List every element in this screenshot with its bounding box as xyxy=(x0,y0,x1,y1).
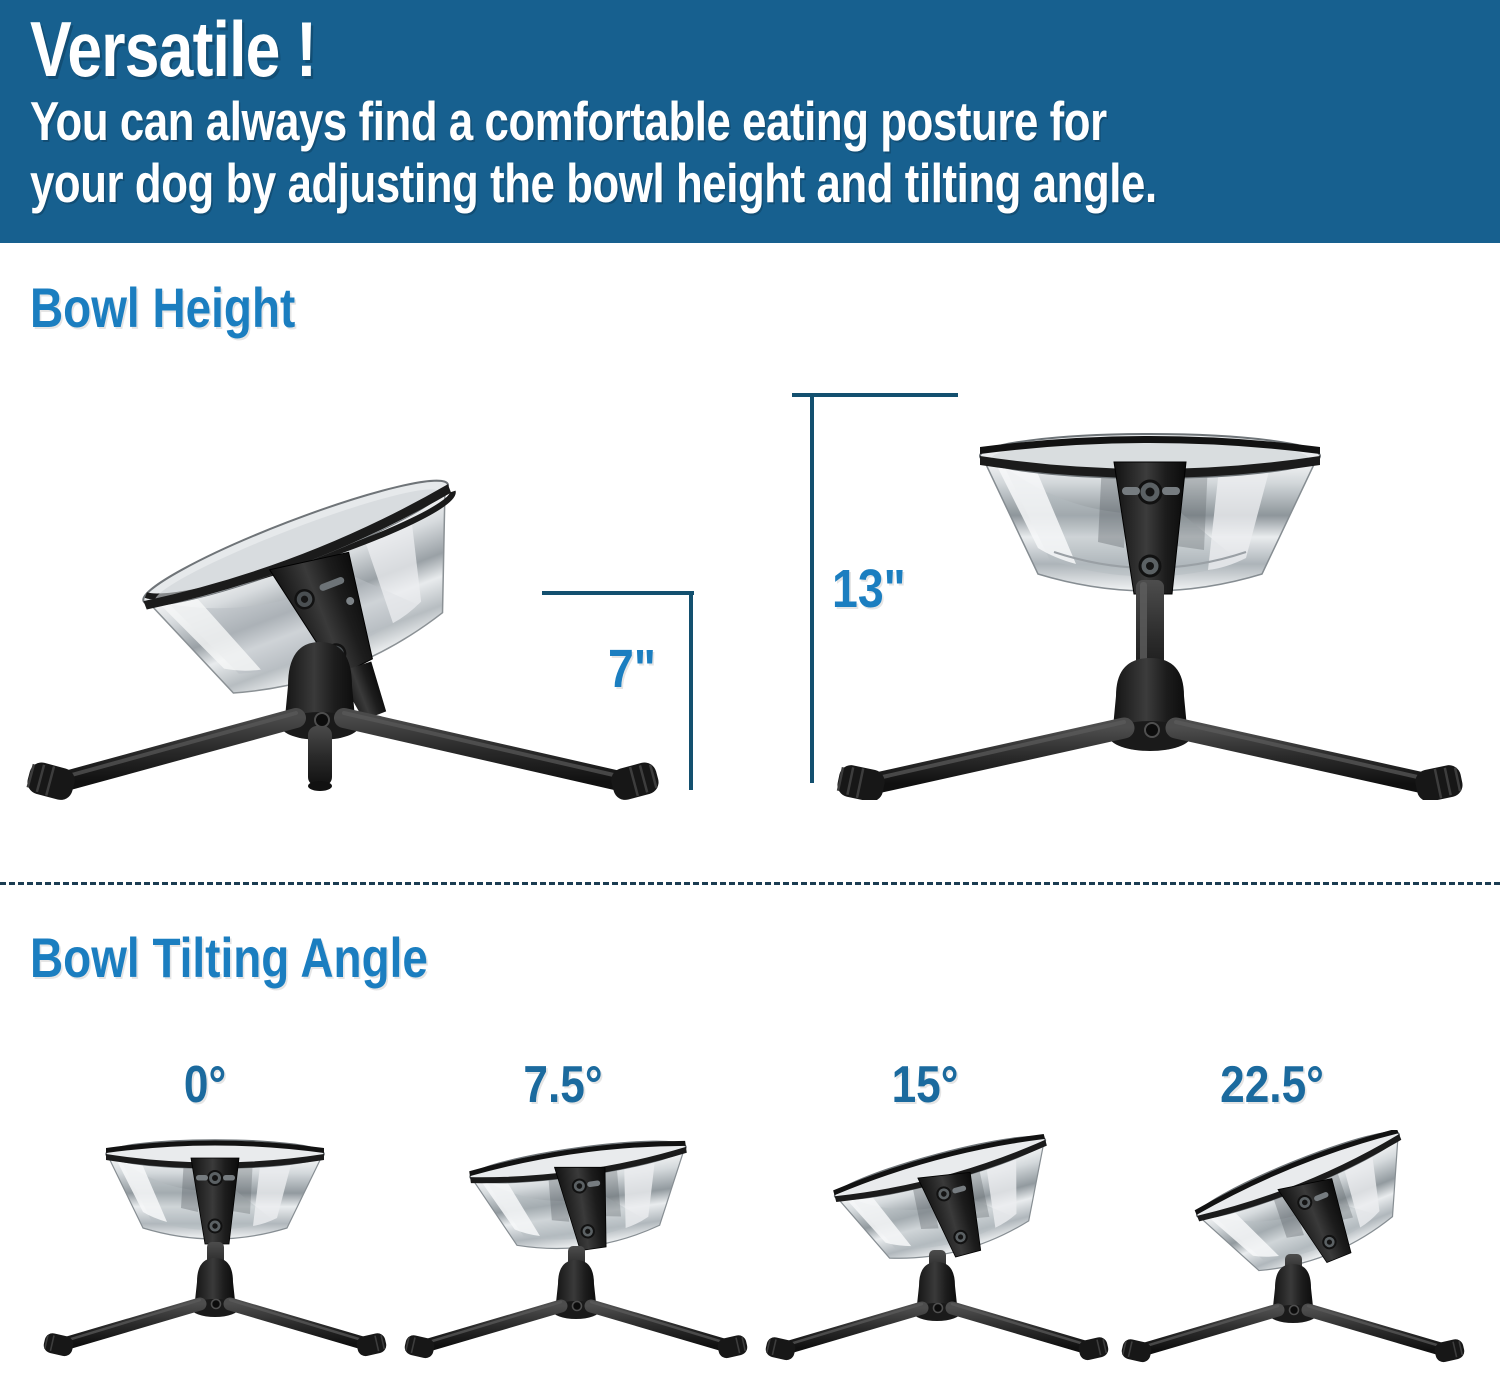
subheadline-line-2: your dog by adjusting the bowl height an… xyxy=(30,152,1178,215)
infographic-page: Versatile ! You can always find a comfor… xyxy=(0,0,1500,1374)
dimension-label-7in: 7" xyxy=(608,638,656,700)
angle-label-7-5deg: 7.5° xyxy=(461,1055,665,1115)
section-divider xyxy=(0,882,1500,885)
dimension-line-vertical-7in xyxy=(689,591,693,790)
subheadline-line-1: You can always find a comfortable eating… xyxy=(30,90,1178,153)
dimension-line-horizontal-13in xyxy=(792,393,958,397)
section-title-bowl-tilting-angle: Bowl Tilting Angle xyxy=(30,925,428,990)
product-image-angle-0deg xyxy=(40,1130,390,1379)
product-image-high-height xyxy=(820,370,1480,805)
dimension-label-13in: 13" xyxy=(832,558,906,620)
dimension-line-horizontal-7in xyxy=(542,591,694,595)
dimension-line-vertical-13in xyxy=(810,393,814,783)
headline-text: Versatile ! xyxy=(30,14,1185,86)
product-image-angle-7-5deg xyxy=(400,1130,750,1379)
angle-label-22-5deg: 22.5° xyxy=(1170,1055,1374,1115)
product-image-angle-22-5deg xyxy=(1115,1130,1465,1379)
product-image-low-height xyxy=(20,430,700,815)
angle-label-15deg: 15° xyxy=(823,1055,1027,1115)
angle-label-0deg: 0° xyxy=(103,1055,307,1115)
header-banner: Versatile ! You can always find a comfor… xyxy=(0,0,1500,243)
product-image-angle-15deg xyxy=(760,1130,1110,1379)
section-title-bowl-height: Bowl Height xyxy=(30,275,295,340)
